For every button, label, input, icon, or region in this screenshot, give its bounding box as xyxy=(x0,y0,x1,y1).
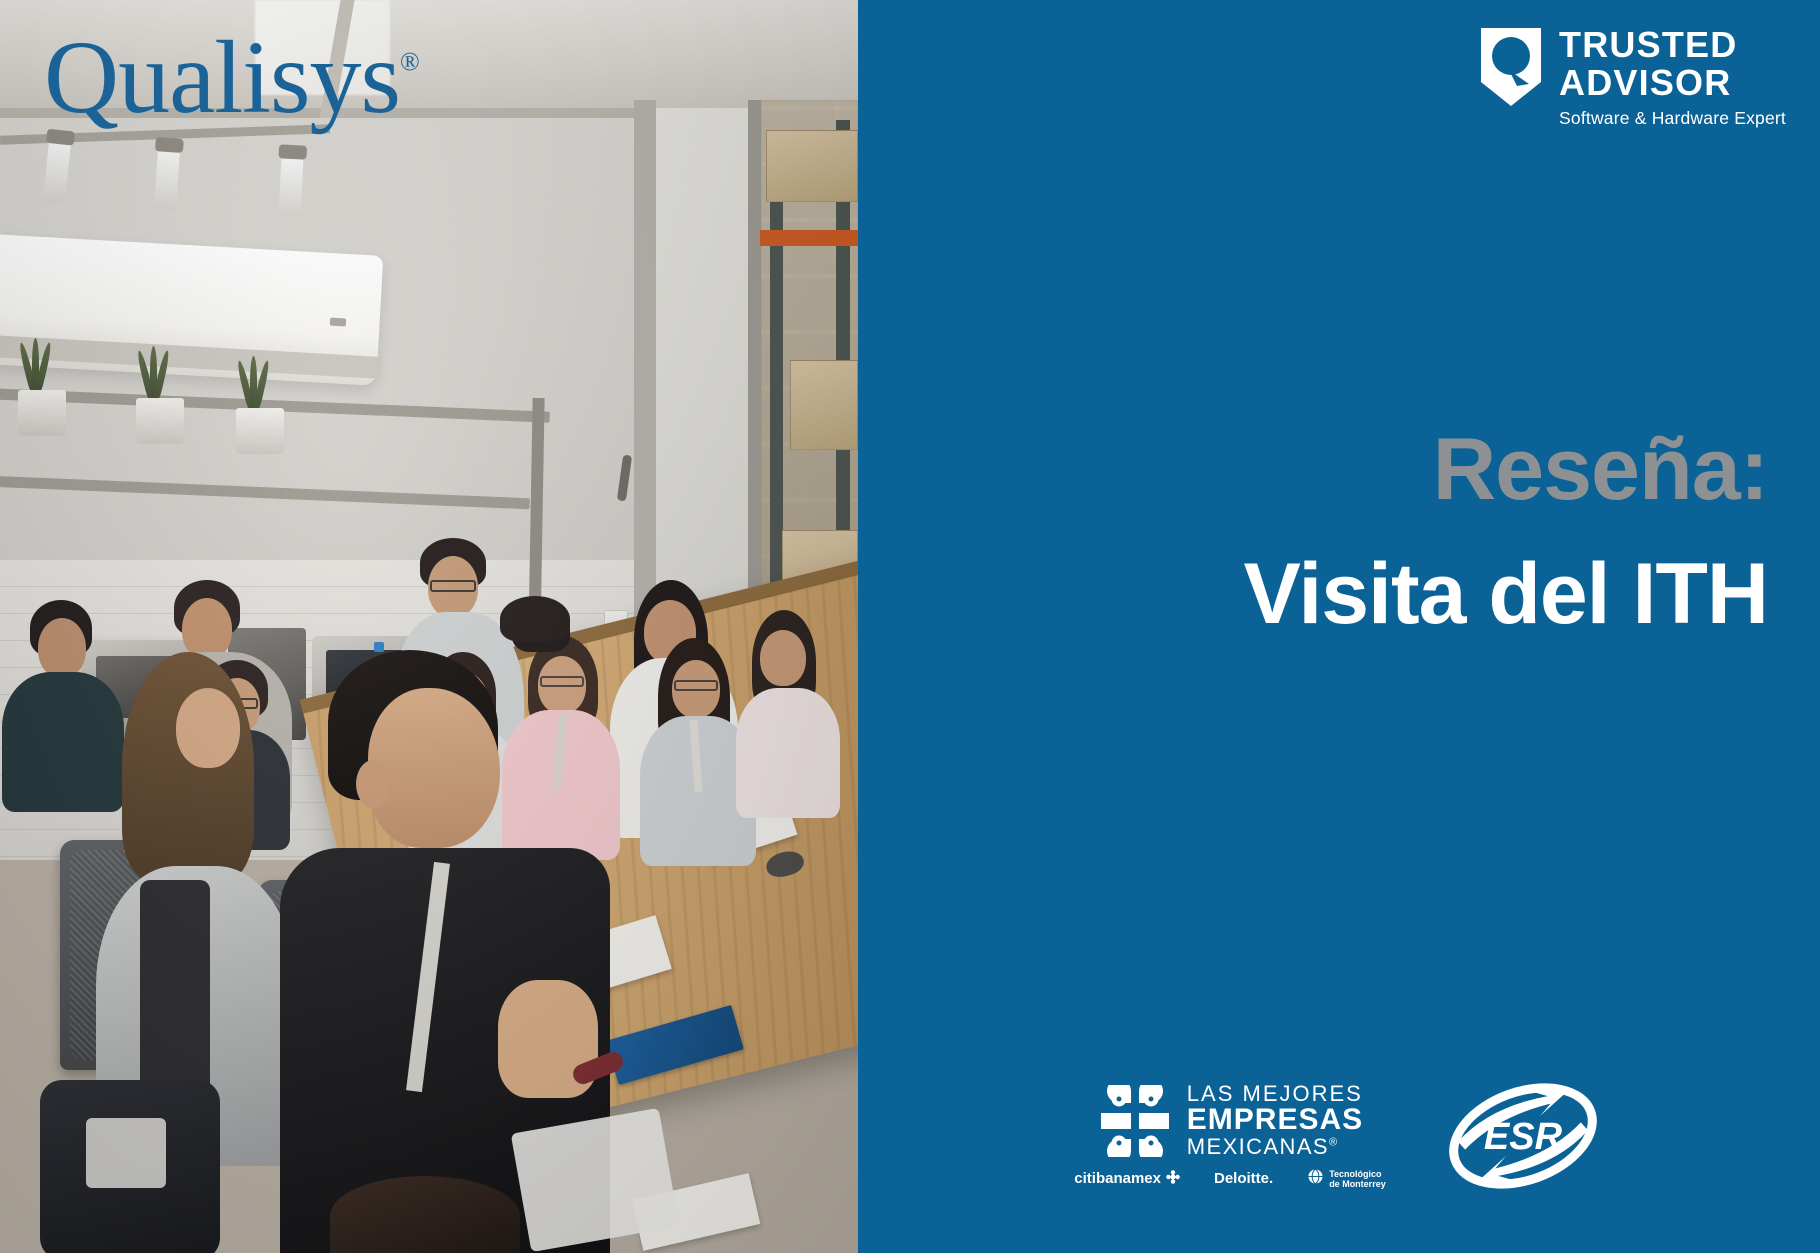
registered-trademark-icon: ® xyxy=(1329,1136,1339,1148)
partner-tec-monterrey-label: Tecnológico de Monterrey xyxy=(1329,1169,1386,1189)
slide-kicker: Reseña: xyxy=(858,418,1768,520)
page-title: Visita del ITH xyxy=(858,545,1768,644)
visit-photo xyxy=(0,0,858,1253)
partner-citibanamex-label: citibanamex xyxy=(1074,1170,1161,1187)
qualisys-logo: Qualisys® xyxy=(44,26,419,130)
trusted-advisor-line1: TRUSTED xyxy=(1559,26,1786,64)
mejores-empresas-line3: MEXICANAS xyxy=(1187,1134,1329,1159)
trusted-advisor-line2: ADVISOR xyxy=(1559,64,1786,102)
registered-trademark-icon: ® xyxy=(400,47,419,76)
partner-deloitte: Deloitte. xyxy=(1214,1170,1273,1187)
q-shield-icon xyxy=(1479,26,1543,108)
presentation-slide: Qualisys® TRUSTED ADVISOR Software & Har… xyxy=(0,0,1820,1253)
content-panel: TRUSTED ADVISOR Software & Hardware Expe… xyxy=(858,0,1820,1253)
esr-wordmark: ESR xyxy=(1484,1116,1563,1158)
trusted-advisor-tagline: Software & Hardware Expert xyxy=(1559,108,1786,129)
qualisys-wordmark: Qualisys xyxy=(44,20,400,135)
tec-line2: de Monterrey xyxy=(1329,1179,1386,1189)
photo-vignette xyxy=(0,0,858,1253)
tec-line1: Tecnológico xyxy=(1329,1169,1381,1179)
award-logos: LAS MEJORES EMPRESAS MEXICANAS® citibana… xyxy=(858,1077,1820,1195)
award-partners: citibanamex Deloitte. xyxy=(1074,1168,1385,1189)
mejores-empresas-line2: EMPRESAS xyxy=(1187,1105,1363,1136)
partner-citibanamex: citibanamex xyxy=(1074,1170,1180,1188)
esr-logo: ESR xyxy=(1442,1077,1604,1195)
trusted-advisor-logo: TRUSTED ADVISOR Software & Hardware Expe… xyxy=(1479,26,1786,129)
mejores-empresas-text: LAS MEJORES EMPRESAS MEXICANAS® xyxy=(1187,1083,1363,1158)
greca-spiral-icon xyxy=(1097,1085,1173,1157)
mejores-empresas-lockup: LAS MEJORES EMPRESAS MEXICANAS® xyxy=(1097,1083,1363,1158)
tec-globe-icon xyxy=(1307,1168,1324,1189)
mejores-empresas-logo: LAS MEJORES EMPRESAS MEXICANAS® citibana… xyxy=(1074,1083,1385,1189)
partner-deloitte-label: Deloitte. xyxy=(1214,1170,1273,1187)
trusted-advisor-text: TRUSTED ADVISOR Software & Hardware Expe… xyxy=(1559,26,1786,129)
mejores-empresas-line1: LAS MEJORES xyxy=(1187,1083,1363,1105)
citibanamex-flower-icon xyxy=(1166,1170,1180,1188)
partner-tec-monterrey: Tecnológico de Monterrey xyxy=(1307,1168,1386,1189)
